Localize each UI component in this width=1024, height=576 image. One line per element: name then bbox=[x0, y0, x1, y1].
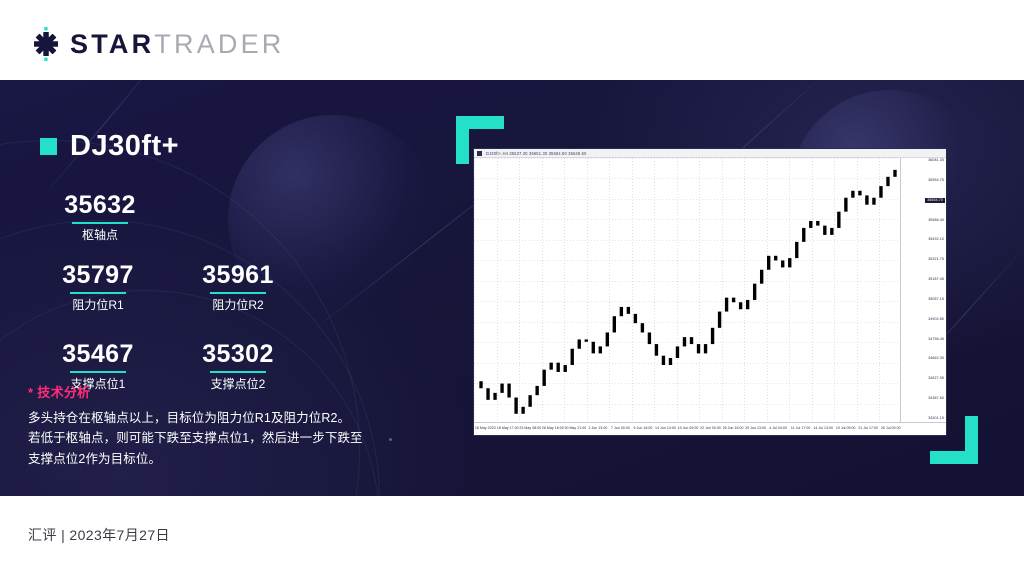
instrument-title-row: DJ30ft+ bbox=[40, 132, 179, 161]
price-axis-tick: 34301.15 bbox=[928, 416, 944, 420]
price-axis-tick: 34662.30 bbox=[928, 356, 944, 360]
time-axis-tick: 26 Jun 16:00 bbox=[723, 426, 744, 430]
candlestick-plot bbox=[474, 158, 902, 424]
resistance-2-underline bbox=[210, 292, 266, 294]
chart-window-title: DJ30ft+,H4 35637.30 35651.30 35584.50 35… bbox=[486, 150, 587, 156]
analysis-line-3: 支撑点位2作为目标位。 bbox=[28, 449, 423, 469]
brand-logo: STARTRADER bbox=[28, 26, 285, 62]
time-axis-tick: 7 Jun 00:00 bbox=[611, 426, 630, 430]
chart-window: DJ30ft+,H4 35637.30 35651.30 35584.50 35… bbox=[473, 148, 947, 436]
time-axis-tick: 14 Jul 13:00 bbox=[813, 426, 833, 430]
support-2-value: 35302 bbox=[168, 341, 308, 367]
time-axis-tick: 18 May 2023 bbox=[475, 426, 496, 430]
analysis-line-2: 若低于枢轴点，则可能下跌至支撑点位1，然后进一步下跌至 bbox=[28, 428, 423, 448]
pivot-value: 35632 bbox=[40, 192, 160, 218]
current-price-tag: 35654.70 bbox=[925, 198, 945, 203]
resistance-1-label: 阻力位R1 bbox=[28, 298, 168, 312]
time-axis-tick: 22 Jun 00:00 bbox=[700, 426, 721, 430]
support-2-underline bbox=[210, 371, 266, 373]
analysis-heading: * 技术分析 bbox=[28, 382, 423, 401]
resistance-row: 35797 阻力位R1 35961 阻力位R2 bbox=[28, 262, 308, 313]
poster-root: STARTRADER DJ30ft+ 35632 bbox=[0, 0, 1024, 576]
page-footer: 汇评 | 2023年7月27日 bbox=[0, 496, 1024, 576]
technical-analysis-block: * 技术分析 多头持仓在枢轴点以上，目标位为阻力位R1及阻力位R2。 若低于枢轴… bbox=[28, 382, 423, 469]
asterisk-star-icon bbox=[28, 26, 64, 62]
levels-grid: 35797 阻力位R1 35961 阻力位R2 35467 支撑点位1 bbox=[28, 262, 308, 391]
price-axis-tick: 35057.15 bbox=[928, 297, 944, 301]
resistance-1-underline bbox=[70, 292, 126, 294]
price-axis-tick: 36081.35 bbox=[928, 158, 944, 162]
price-axis-tick: 34527.95 bbox=[928, 376, 944, 380]
analysis-body: 多头持仓在枢轴点以上，目标位为阻力位R1及阻力位R2。 若低于枢轴点，则可能下跌… bbox=[28, 408, 423, 469]
footer-caption: 汇评 | 2023年7月27日 bbox=[28, 525, 170, 545]
time-axis-tick: 14 Jun 13:00 bbox=[655, 426, 676, 430]
pivot-underline bbox=[72, 222, 128, 224]
time-axis: 18 May 202318 May 17:0023 May 08:0026 Ma… bbox=[474, 422, 946, 435]
support-1-underline bbox=[70, 371, 126, 373]
time-axis-tick: 29 Jun 13:00 bbox=[745, 426, 766, 430]
time-axis-tick: 26 Jul 09:00 bbox=[881, 426, 901, 430]
main-dark-panel: DJ30ft+ 35632 枢轴点 35797 阻力位R1 35961 bbox=[0, 80, 1024, 496]
analysis-line-1: 多头持仓在枢轴点以上，目标位为阻力位R1及阻力位R2。 bbox=[28, 408, 423, 428]
price-axis-tick: 35321.75 bbox=[928, 257, 944, 261]
time-axis-tick: 21 Jul 17:00 bbox=[858, 426, 878, 430]
resistance-1-stat: 35797 阻力位R1 bbox=[28, 262, 168, 313]
page-header: STARTRADER bbox=[0, 0, 1024, 80]
resistance-2-stat: 35961 阻力位R2 bbox=[168, 262, 308, 313]
time-axis-tick: 30 May 21:00 bbox=[564, 426, 586, 430]
chart-zone: DJ30ft+,H4 35637.30 35651.30 35584.50 35… bbox=[440, 80, 1024, 496]
resistance-2-value: 35961 bbox=[168, 262, 308, 288]
pivot-label: 枢轴点 bbox=[40, 228, 160, 242]
time-axis-tick: 26 May 16:00 bbox=[542, 426, 564, 430]
price-axis-tick: 34902.80 bbox=[928, 317, 944, 321]
time-axis-tick: 2 Jun 13:00 bbox=[588, 426, 607, 430]
resistance-2-label: 阻力位R2 bbox=[168, 298, 308, 312]
chart-symbol-icon bbox=[477, 151, 482, 156]
time-axis-tick: 9 Jun 16:00 bbox=[634, 426, 653, 430]
price-axis-tick: 35586.40 bbox=[928, 218, 944, 222]
title-bullet-square bbox=[40, 138, 57, 155]
chart-window-titlebar: DJ30ft+,H4 35637.30 35651.30 35584.50 35… bbox=[474, 149, 946, 158]
brand-name-light: TRADER bbox=[154, 29, 284, 59]
time-axis-tick: 23 May 08:00 bbox=[519, 426, 541, 430]
time-axis-tick: 11 Jul 17:00 bbox=[791, 426, 810, 430]
price-axis-tick: 35187.45 bbox=[928, 277, 944, 281]
time-axis-tick: 19 Jul 09:00 bbox=[836, 426, 856, 430]
price-axis-tick: 35492.10 bbox=[928, 237, 944, 241]
time-axis-tick: 19 Jun 09:00 bbox=[678, 426, 699, 430]
pivot-stat: 35632 枢轴点 bbox=[40, 192, 160, 243]
price-axis-tick: 35954.75 bbox=[928, 178, 944, 182]
support-1-value: 35467 bbox=[28, 341, 168, 367]
price-axis-tick: 34387.60 bbox=[928, 396, 944, 400]
instrument-symbol: DJ30ft+ bbox=[70, 132, 179, 161]
resistance-1-value: 35797 bbox=[28, 262, 168, 288]
price-axis-tick: 34756.45 bbox=[928, 337, 944, 341]
brand-wordmark: STARTRADER bbox=[70, 31, 285, 58]
price-axis: 36081.3535954.7535654.7035586.4035492.10… bbox=[900, 158, 946, 424]
time-axis-tick: 4 Jul 04:00 bbox=[769, 426, 787, 430]
time-axis-tick: 18 May 17:00 bbox=[497, 426, 519, 430]
instrument-info-panel: DJ30ft+ 35632 枢轴点 35797 阻力位R1 35961 bbox=[0, 80, 440, 496]
brand-name-bold: STAR bbox=[70, 29, 154, 59]
